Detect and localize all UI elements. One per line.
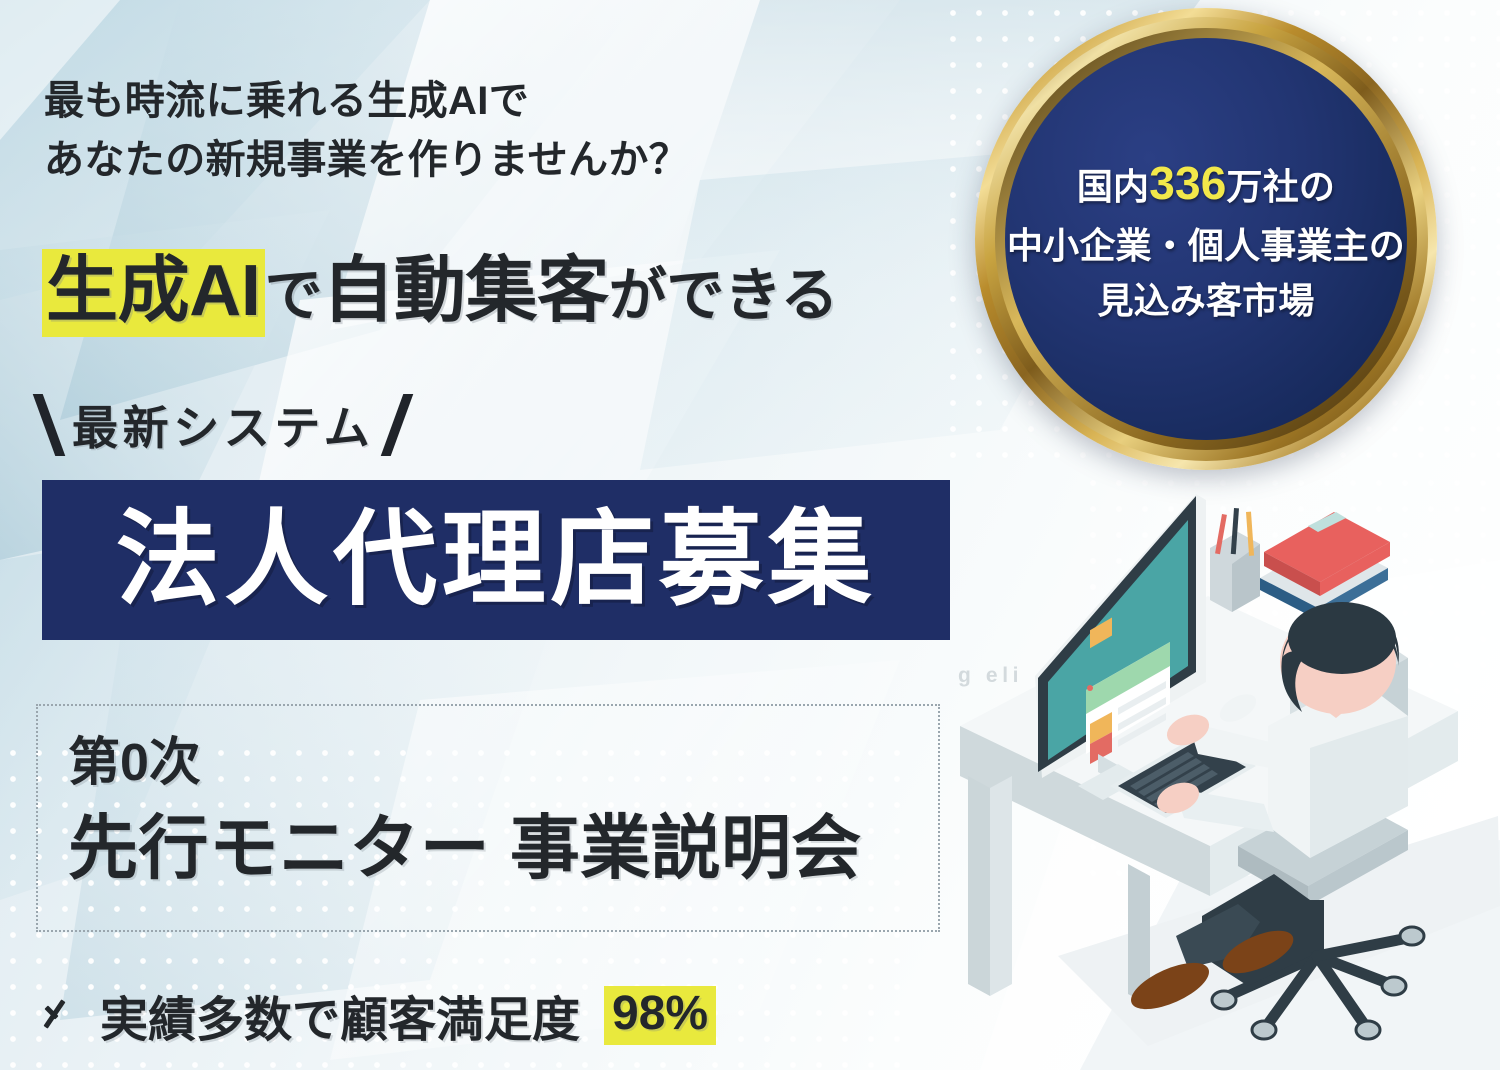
navy-headline-band: 法人代理店募集 <box>42 480 950 640</box>
headline-tail: ができる <box>609 263 838 328</box>
event-round-label: 第0次 <box>68 720 201 795</box>
badge-line-1: 国内336万社の <box>1007 149 1405 219</box>
badge-line-2: 中小企業・個人事業主の <box>1007 219 1405 274</box>
right-slash-icon <box>381 394 414 456</box>
event-dashed-box: 第0次 先行モニター 事業説明会 <box>36 704 940 932</box>
headline-highlight: 生成AI <box>42 249 265 337</box>
satisfaction-percent: 98% <box>604 986 716 1045</box>
badge-line1-post: 万社の <box>1227 166 1336 207</box>
event-title: 先行モニター 事業説明会 <box>68 792 862 893</box>
headline: 生成AIで自動集客ができる <box>42 253 992 329</box>
lead-line-1: 最も時流に乗れる生成AIで <box>44 72 944 131</box>
market-size-badge: 国内336万社の 中小企業・個人事業主の 見込み客市場 <box>975 8 1437 470</box>
content-column: 最も時流に乗れる生成AIで あなたの新規事業を作りませんか？ 生成AIで自動集客… <box>0 0 990 1070</box>
check-icon <box>40 994 82 1036</box>
badge-face: 国内336万社の 中小企業・個人事業主の 見込み客市場 <box>1005 38 1407 440</box>
badge-line-3: 見込み客市場 <box>1007 274 1405 329</box>
promo-banner: 最も時流に乗れる生成AIで あなたの新規事業を作りませんか？ 生成AIで自動集客… <box>0 0 1500 1070</box>
headline-strong: 自動集客 <box>322 251 609 331</box>
lead-copy: 最も時流に乗れる生成AIで あなたの新規事業を作りませんか？ <box>44 72 944 190</box>
proof-text: 実績多数で顧客満足度 <box>100 980 580 1050</box>
system-line: 最新システム <box>44 392 402 458</box>
system-line-text: 最新システム <box>72 392 374 458</box>
lead-line-2: あなたの新規事業を作りませんか？ <box>44 131 944 190</box>
left-slash-icon <box>33 394 66 456</box>
proof-line: 実績多数で顧客満足度 98% <box>40 980 716 1050</box>
desk-illustration: g eli <box>938 486 1500 1070</box>
desk-illustration-svg <box>938 486 1500 1070</box>
navy-band-text: 法人代理店募集 <box>116 508 877 612</box>
badge-number: 336 <box>1149 157 1226 209</box>
headline-mid: で <box>265 263 323 328</box>
badge-line1-pre: 国内 <box>1077 166 1149 207</box>
badge-text: 国内336万社の 中小企業・個人事業主の 見込み客市場 <box>1007 149 1405 328</box>
